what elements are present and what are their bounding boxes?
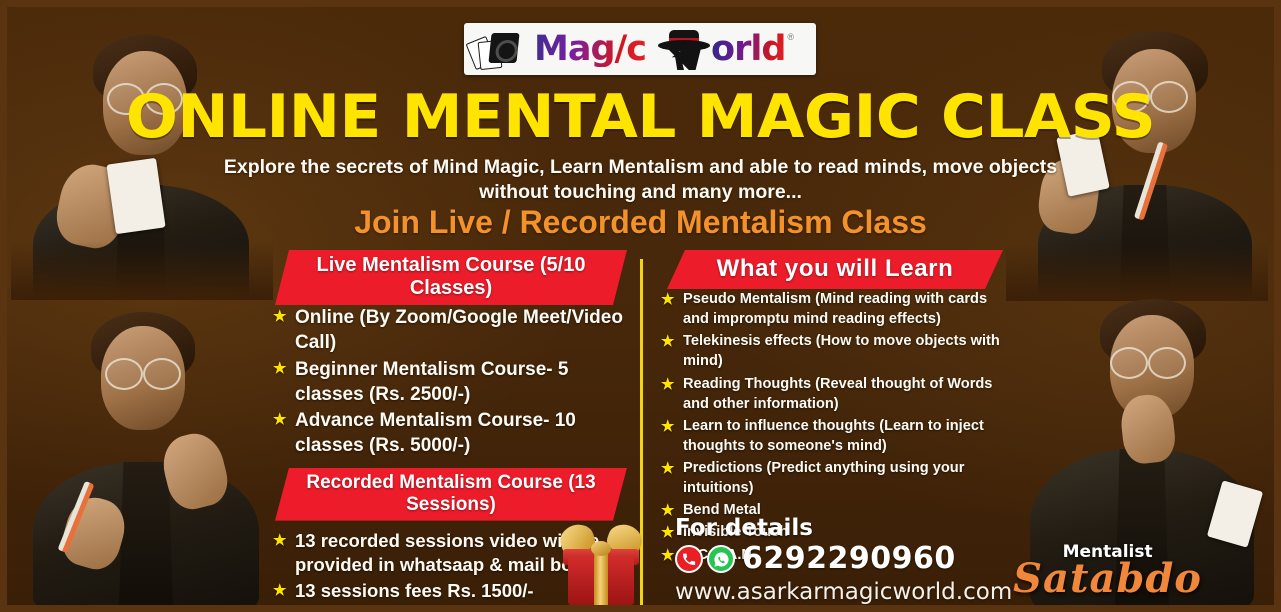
list-item: ★ Reading Thoughts (Reveal thought of Wo… — [657, 374, 1013, 414]
star-bullet-icon: ★ — [273, 533, 286, 548]
recorded-course-ribbon: Recorded Mentalism Course (13 Sessions) — [275, 468, 627, 521]
contact-heading: For details — [675, 517, 1035, 540]
list-item-label: Telekinesis effects (How to move objects… — [683, 333, 1000, 369]
list-item-label: Pay Rs. 1500/- extra & get a special Men… — [295, 605, 567, 612]
list-item: ★ Learn to influence thoughts (Learn to … — [657, 416, 1003, 456]
trademark-symbol: ® — [787, 32, 794, 42]
star-bullet-icon: ★ — [661, 419, 674, 434]
star-bullet-icon: ★ — [273, 309, 286, 324]
page-title: ONLINE MENTAL MAGIC CLASS — [0, 87, 1281, 147]
star-bullet-icon: ★ — [661, 377, 674, 392]
star-bullet-icon: ★ — [273, 361, 286, 376]
list-item: ★ Advance Mentalism Course- 10 classes (… — [269, 408, 629, 459]
logo-word-world: orld — [711, 32, 785, 67]
list-item: ★ Beginner Mentalism Course- 5 classes (… — [269, 357, 629, 408]
list-item-label: Beginner Mentalism Course- 5 classes (Rs… — [295, 359, 568, 405]
list-item-label: Pseudo Mentalism (Mind reading with card… — [683, 291, 987, 327]
mentalist-signature: Mentalist Satabdo — [1013, 544, 1202, 599]
star-bullet-icon: ★ — [661, 334, 674, 349]
star-bullet-icon: ★ — [661, 292, 674, 307]
list-item: ★ Online (By Zoom/Google Meet/Video Call… — [269, 305, 629, 356]
star-bullet-icon: ★ — [661, 525, 674, 540]
star-bullet-icon: ★ — [273, 583, 286, 598]
star-bullet-icon: ★ — [661, 503, 674, 518]
signature-name: Satabdo — [1013, 559, 1202, 599]
magician-photo-left-bottom — [17, 312, 275, 612]
top-hat-icon — [658, 28, 710, 70]
promo-poster: Mag/c orld ® ONLINE MENTAL MAGIC CLASS E… — [0, 0, 1281, 612]
list-item-label: Reading Thoughts (Reveal thought of Word… — [683, 376, 992, 412]
list-item-label: 13 sessions fees Rs. 1500/- — [295, 580, 534, 601]
brand-logo: Mag/c orld ® — [464, 23, 816, 75]
phone-row: 6292290960 — [675, 544, 1035, 574]
star-bullet-icon: ★ — [661, 548, 674, 563]
magic-camera-cards-icon — [470, 29, 532, 69]
star-bullet-icon: ★ — [661, 461, 674, 476]
join-tagline: Join Live / Recorded Mentalism Class — [7, 206, 1274, 238]
gift-box-icon — [558, 523, 646, 609]
contact-block: For details 6292290960 www.asarkarmagicw… — [675, 517, 1035, 604]
list-item-label: Learn to influence thoughts (Learn to in… — [683, 418, 984, 454]
logo-word-magic: Mag/c — [534, 32, 646, 67]
star-bullet-icon: ★ — [273, 412, 286, 427]
list-item: ★ Pay Rs. 1500/- extra & get a special M… — [269, 604, 577, 612]
subtitle: Explore the secrets of Mind Magic, Learn… — [217, 155, 1064, 205]
phone-call-icon[interactable] — [675, 545, 703, 573]
list-item-label: Online (By Zoom/Google Meet/Video Call) — [295, 307, 623, 353]
star-bullet-icon: ★ — [273, 608, 286, 612]
learn-ribbon: What you will Learn — [667, 250, 1003, 289]
website-url[interactable]: www.asarkarmagicworld.com — [675, 581, 1035, 604]
list-item-label: 13 recorded sessions video will be provi… — [295, 530, 599, 576]
list-item-label: Predictions (Predict anything using your… — [683, 460, 964, 496]
list-item-label: Advance Mentalism Course- 10 classes (Rs… — [295, 410, 576, 456]
phone-number[interactable]: 6292290960 — [742, 544, 956, 574]
whatsapp-icon[interactable] — [707, 545, 735, 573]
list-item: ★ Pseudo Mentalism (Mind reading with ca… — [657, 289, 1013, 329]
list-item: ★ Telekinesis effects (How to move objec… — [657, 331, 1025, 371]
live-course-list: ★ Online (By Zoom/Google Meet/Video Call… — [269, 305, 629, 459]
list-item: ★ Predictions (Predict anything using yo… — [657, 458, 1025, 498]
live-course-ribbon: Live Mentalism Course (5/10 Classes) — [275, 250, 627, 305]
